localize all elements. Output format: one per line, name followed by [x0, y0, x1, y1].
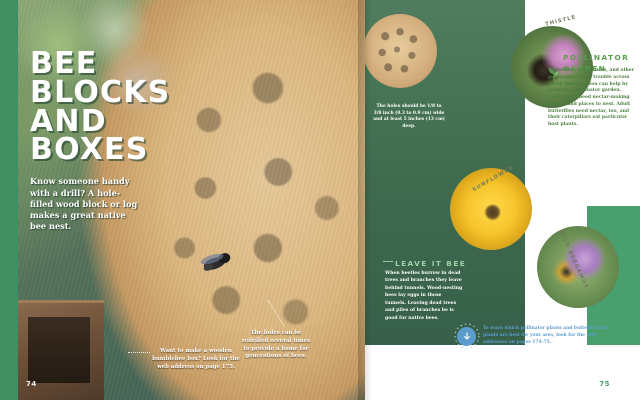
page-number-right: 75	[599, 380, 610, 388]
callout-hole-dimensions: The holes should be 1/8 to 3/8 inch (0.3…	[373, 104, 445, 130]
callout-redrill: The holes can be redrilled several times…	[240, 330, 312, 361]
book-spread: BEE BLOCKS AND BOXES Know someone handy …	[0, 0, 640, 400]
page-number-left: 74	[26, 380, 37, 388]
pollinator-paragraph-1: Butterflies, native bees, and other poll…	[548, 68, 636, 129]
download-arrow-icon	[457, 327, 476, 346]
leave-it-bee-body: When beetles burrow in dead trees and br…	[385, 270, 463, 322]
callout-leader-bumblebee	[128, 352, 150, 353]
info-box: To learn which pollinator plants and but…	[457, 326, 617, 346]
page-subtitle: Know someone handy with a drill? A hole-…	[30, 176, 138, 233]
callout-bumblebee-box: Want to make a wooden bumblebee box? Loo…	[150, 348, 242, 371]
heading-leave-it-bee: LEAVE IT BEE	[395, 258, 485, 269]
info-box-text: To learn which pollinator plants and but…	[483, 326, 617, 346]
page-title: BEE BLOCKS AND BOXES Know someone handy …	[30, 50, 220, 233]
heading-leader-dash	[383, 261, 393, 262]
carpenter-bee-illustration	[195, 242, 243, 280]
title-line-4: BOXES	[30, 136, 220, 165]
right-page: The holes should be 1/8 to 3/8 inch (0.3…	[365, 0, 640, 400]
pollinator-paragraph-2: Planting different native flowers that b…	[550, 152, 632, 193]
left-page: BEE BLOCKS AND BOXES Know someone handy …	[0, 0, 365, 400]
drilled-holes-closeup-photo	[365, 14, 437, 88]
